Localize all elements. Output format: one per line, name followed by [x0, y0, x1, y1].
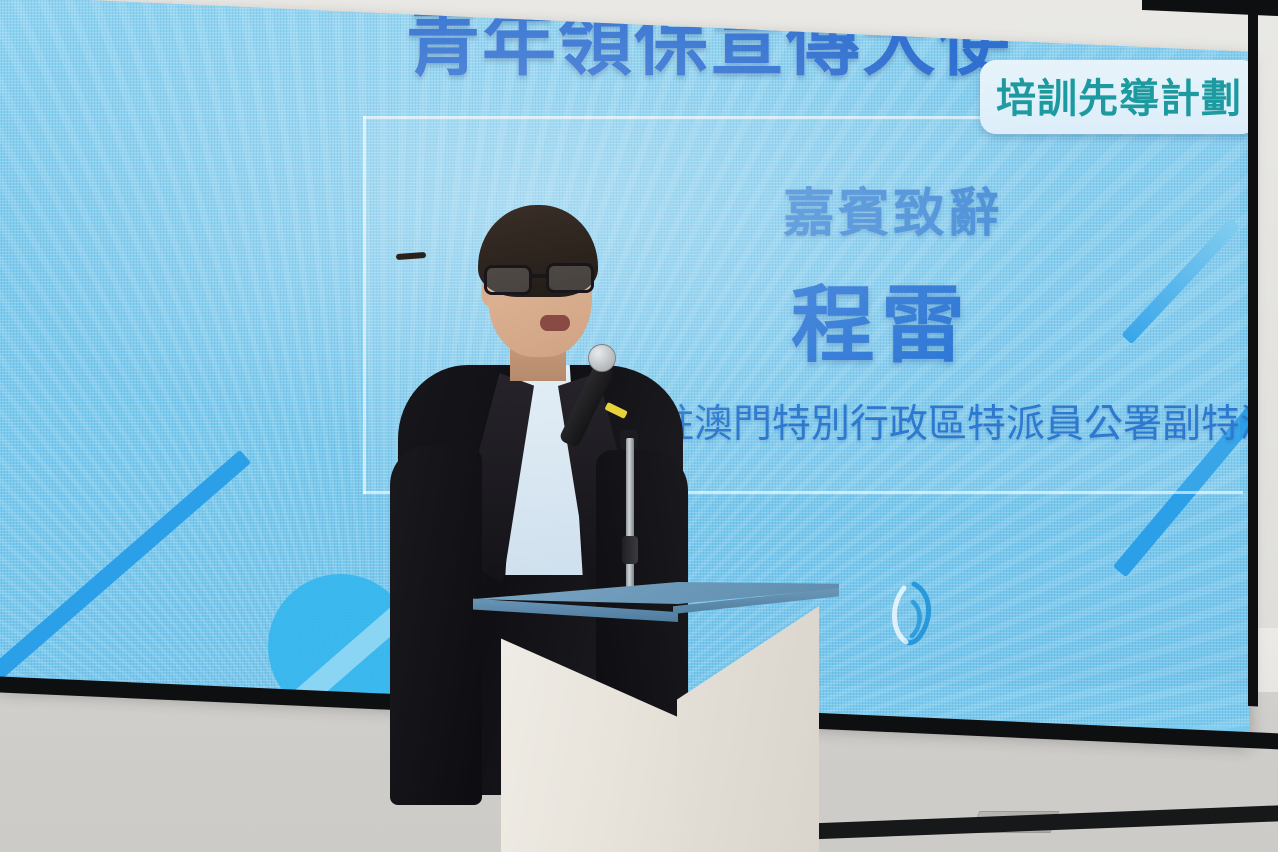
glasses-bridge	[532, 274, 546, 278]
deco-stripe-bottom-left	[0, 450, 251, 679]
logo-swoosh-icon	[880, 580, 942, 648]
podium-front-panel	[501, 620, 679, 852]
guest-speech-label: 嘉賓致辭	[783, 171, 1003, 246]
podium-side-panel	[677, 606, 819, 852]
mouth	[540, 315, 570, 331]
microphone	[586, 344, 646, 594]
microphone-band	[604, 402, 627, 419]
microphone-stand-joint	[622, 536, 638, 564]
eyebrow	[396, 252, 426, 260]
podium	[473, 562, 839, 852]
lens-left	[484, 265, 532, 295]
arm-left	[390, 445, 482, 805]
led-bezel-right	[1248, 0, 1258, 706]
speaker-name: 程雷	[791, 258, 971, 379]
lens-right	[546, 263, 594, 293]
microphone-head-icon	[588, 344, 616, 372]
screen-badge: 培訓先導計劃	[980, 60, 1250, 134]
eyeglasses-icon	[484, 263, 600, 297]
event-photo-scene: 青年領保宣傳大使 培訓先導計劃 嘉賓致辭 程雷 國外交部駐澳門特別行政區特派員公…	[0, 0, 1278, 852]
